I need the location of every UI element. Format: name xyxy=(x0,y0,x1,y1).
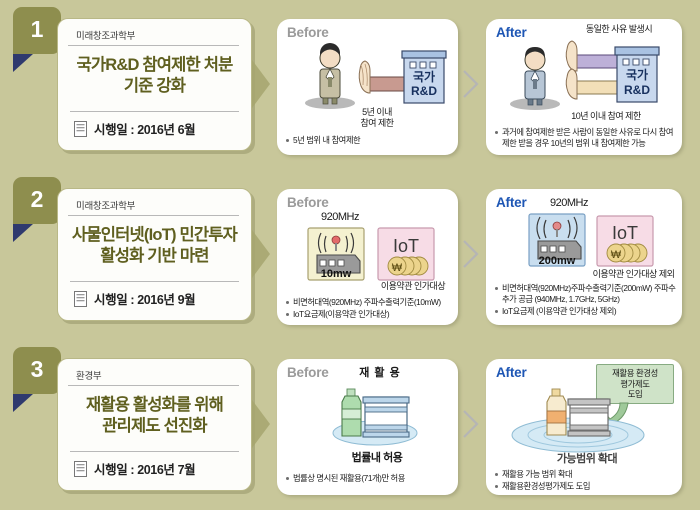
router-icon-before: 10mw xyxy=(307,227,365,281)
iot-label-after: IoT xyxy=(612,223,638,243)
ministry-label-1: 미래창조과학부 xyxy=(68,26,239,46)
before-label-1: Before xyxy=(287,25,329,40)
before-top-caption-3: 재 활 용 xyxy=(335,367,425,380)
document-icon xyxy=(74,291,87,307)
effective-date-row-3: 시행일 : 2016년 7월 xyxy=(68,459,241,478)
policy-title-line-2: 관리제도 선진화 xyxy=(68,416,241,437)
after-iot-caption-2: 이용약관 인가대상 제외 xyxy=(586,269,681,280)
effective-date-1: 시행일 : 2016년 6월 xyxy=(94,119,195,138)
after-label-3: After xyxy=(496,365,527,380)
before-bullets-2: 비면허대역(920MHz) 주파수출력기준(10mW) IoT요금제(이용약관 … xyxy=(285,297,453,321)
recycling-illustration-after xyxy=(508,389,648,455)
building-text-line1-before: 국가 xyxy=(413,69,435,84)
before-caption-1: 5년 이내 참여 제한 xyxy=(339,107,415,129)
router-power-label-after: 200mw xyxy=(539,255,576,267)
callout-line-2: 평가제도 xyxy=(620,379,649,390)
iot-billing-icon-before: IoT ₩ xyxy=(377,227,435,281)
before-caption-line2-1: 참여 제한 xyxy=(339,118,415,129)
after-bottom-caption-3: 가능범위 확대 xyxy=(534,453,640,466)
before-caption-line1-1: 5년 이내 xyxy=(339,107,415,118)
policy-title-line-2: 활성화 기반 마련 xyxy=(68,246,241,267)
arrow-right-icon-2 xyxy=(252,230,270,278)
bullet-item: IoT요금제 (이용약관 인가대상 제외) xyxy=(494,306,677,317)
bullet-item: 비면허대역(920MHz) 주파수출력기준(10mW) xyxy=(285,297,453,308)
policy-title-card-2[interactable]: 미래창조과학부 사물인터넷(IoT) 민간투자 활성화 기반 마련 시행일 : … xyxy=(57,188,252,321)
before-panel-3: Before 재 활 용 법률내 허용 법률상 명시된 재활용(71개)만 허용 xyxy=(277,359,458,495)
after-bullets-2: 비면허대역(920MHz)주파수출력기준(200mW) 주파수 추가 공급 (9… xyxy=(494,283,677,318)
after-panel-3: After 재활용 환경성 평가제도 도입 xyxy=(486,359,682,495)
chevron-right-icon-2 xyxy=(462,239,479,269)
iot-billing-icon-after: IoT ₩ xyxy=(596,215,654,267)
bullet-item: 비면허대역(920MHz)주파수출력기준(200mW) 주파수 추가 공급 (9… xyxy=(494,283,677,305)
before-label-2: Before xyxy=(287,195,329,210)
before-panel-2: Before 920MHz 10mw IoT xyxy=(277,189,458,325)
effective-date-row-2: 시행일 : 2016년 9월 xyxy=(68,289,241,308)
policy-title-line-2: 기준 강화 xyxy=(68,76,241,97)
policy-title-3: 재활용 활성화를 위해 관리제도 선진화 xyxy=(68,395,241,445)
policy-row-2: 2 미래창조과학부 사물인터넷(IoT) 민간투자 활성화 기반 마련 시행일 … xyxy=(0,177,700,337)
after-label-2: After xyxy=(496,195,527,210)
infographic-page: 1 미래창조과학부 국가R&D 참여제한 처분 기준 강화 시행일 : 2016… xyxy=(0,0,700,510)
bullet-item: 5년 범위 내 참여제한 xyxy=(285,135,453,146)
row-number-badge-2: 2 xyxy=(13,177,61,224)
after-bullets-3: 재활용 가능 범위 확대 재활용환경성평가제도 도입 xyxy=(494,469,677,493)
arrow-right-icon-1 xyxy=(252,60,270,108)
bullet-item: 재활용환경성평가제도 도입 xyxy=(494,481,677,492)
recycling-illustration-before xyxy=(325,385,425,447)
after-label-1: After xyxy=(496,25,527,40)
policy-title-card-3[interactable]: 환경부 재활용 활성화를 위해 관리제도 선진화 시행일 : 2016년 7월 xyxy=(57,358,252,491)
policy-row-1: 1 미래창조과학부 국가R&D 참여제한 처분 기준 강화 시행일 : 2016… xyxy=(0,7,700,167)
arrow-right-icon-3 xyxy=(252,400,270,448)
router-icon-after: 200mw xyxy=(528,213,586,267)
document-icon xyxy=(74,461,87,477)
policy-title-line-1: 재활용 활성화를 위해 xyxy=(68,395,241,416)
ministry-label-2: 미래창조과학부 xyxy=(68,196,239,216)
policy-title-2: 사물인터넷(IoT) 민간투자 활성화 기반 마련 xyxy=(68,225,241,275)
policy-title-line-1: 사물인터넷(IoT) 민간투자 xyxy=(68,225,241,246)
badge-tail-2 xyxy=(13,224,33,242)
divider-3 xyxy=(70,451,239,452)
national-rnd-building-icon-before: 국가 R&D xyxy=(402,49,446,105)
building-text-line2-after: R&D xyxy=(624,83,650,97)
badge-tail-3 xyxy=(13,394,33,412)
bullet-item: 과거에 참여제한 받은 사람이 동일한 사유로 다시 참여제한 받을 경우 10… xyxy=(494,127,677,149)
callout-line-1: 재활용 환경성 xyxy=(612,368,658,379)
bullet-item: 재활용 가능 범위 확대 xyxy=(494,469,677,480)
after-top-caption-1: 동일한 사유 발생시 xyxy=(564,24,674,35)
effective-date-3: 시행일 : 2016년 7월 xyxy=(94,459,195,478)
row-number-badge-1: 1 xyxy=(13,7,61,54)
policy-title-line-1: 국가R&D 참여제한 처분 xyxy=(68,55,241,76)
after-bullets-1: 과거에 참여제한 받은 사람이 동일한 사유로 다시 참여제한 받을 경우 10… xyxy=(494,127,677,150)
before-bottom-caption-3: 법률내 허용 xyxy=(329,452,425,465)
after-panel-1: After 동일한 사유 발생시 xyxy=(486,19,682,155)
chevron-right-icon-3 xyxy=(462,409,479,439)
document-icon xyxy=(74,121,87,137)
national-rnd-building-icon-after: 국가 R&D xyxy=(614,45,660,105)
before-bullets-1: 5년 범위 내 참여제한 xyxy=(285,135,453,147)
policy-row-3: 3 환경부 재활용 활성화를 위해 관리제도 선진화 시행일 : 2016년 7… xyxy=(0,347,700,507)
svg-text:₩: ₩ xyxy=(611,249,622,261)
after-frequency-label-2: 920MHz xyxy=(534,197,604,210)
bullet-item: 법률상 명시된 재활용(71개)만 허용 xyxy=(285,473,453,484)
row-number-badge-3: 3 xyxy=(13,347,61,394)
ministry-label-3: 환경부 xyxy=(68,366,239,386)
after-panel-2: After 920MHz 200mw IoT xyxy=(486,189,682,325)
divider-1 xyxy=(70,111,239,112)
badge-tail-1 xyxy=(13,54,33,72)
before-label-3: Before xyxy=(287,365,329,380)
router-power-label-before: 10mw xyxy=(321,268,352,280)
building-text-line1-after: 국가 xyxy=(626,67,648,82)
iot-label-before: IoT xyxy=(393,236,419,256)
before-bullets-3: 법률상 명시된 재활용(71개)만 허용 xyxy=(285,473,453,485)
effective-date-2: 시행일 : 2016년 9월 xyxy=(94,289,195,308)
svg-text:₩: ₩ xyxy=(392,262,403,274)
policy-title-card-1[interactable]: 미래창조과학부 국가R&D 참여제한 처분 기준 강화 시행일 : 2016년 … xyxy=(57,18,252,151)
building-text-line2-before: R&D xyxy=(411,84,437,98)
divider-2 xyxy=(70,281,239,282)
before-iot-caption-2: 이용약관 인가대상 xyxy=(373,281,453,292)
before-frequency-label-2: 920MHz xyxy=(305,211,375,224)
policy-title-1: 국가R&D 참여제한 처분 기준 강화 xyxy=(68,55,241,105)
bullet-item: IoT요금제(이용약관 인가대상) xyxy=(285,309,453,320)
after-bottom-caption-1: 10년 이내 참여 제한 xyxy=(546,111,666,122)
chevron-right-icon-1 xyxy=(462,69,479,99)
effective-date-row-1: 시행일 : 2016년 6월 xyxy=(68,119,241,138)
before-panel-1: Before xyxy=(277,19,458,155)
